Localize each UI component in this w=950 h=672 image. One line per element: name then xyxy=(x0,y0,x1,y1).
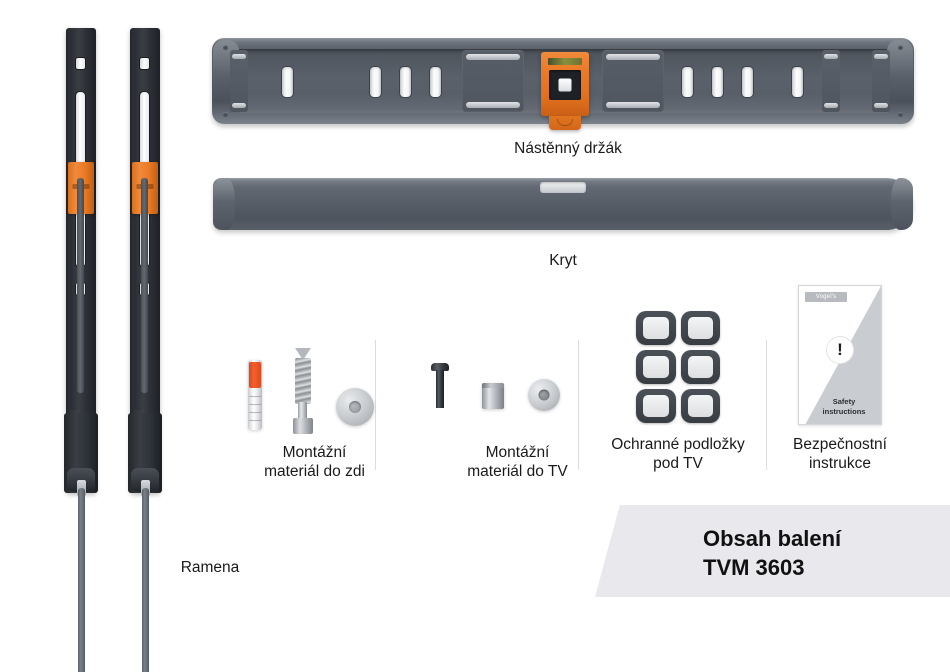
screw-point-icon xyxy=(898,45,903,50)
arm-inner-bar xyxy=(77,178,84,393)
spacer-sleeve-icon xyxy=(482,383,504,409)
lag-screw-icon xyxy=(292,348,314,430)
wall-hardware-label: Montážní materiál do zdi xyxy=(222,443,407,481)
wall-bracket-end-cap-right xyxy=(887,40,913,122)
banner-title: Obsah balení TVM 3603 xyxy=(703,524,841,582)
spacer-top xyxy=(482,383,504,388)
wall-bracket-slot xyxy=(712,67,723,97)
wall-bracket-label: Nástěnný držák xyxy=(468,139,668,158)
wall-bracket-slot xyxy=(792,67,803,97)
safety-instructions-booklet: Vogel's ! Safety instructions xyxy=(798,285,882,425)
booklet-safety-text: Safety instructions xyxy=(813,397,875,416)
wall-bracket-mount-plate xyxy=(602,50,664,112)
arm-inner-bar xyxy=(141,178,148,393)
vogels-logo-icon: Vogel's xyxy=(805,292,847,302)
bolt-shaft xyxy=(436,370,444,408)
wall-bracket-slot xyxy=(282,67,293,97)
wall-bracket-slot xyxy=(430,67,441,97)
exclamation-mark-icon: ! xyxy=(826,336,854,364)
wall-bracket-slot xyxy=(682,67,693,97)
center-lock-block xyxy=(541,52,589,116)
plate-strip xyxy=(824,103,838,108)
cover-end-left xyxy=(213,178,235,230)
cover xyxy=(213,178,913,230)
screw-head xyxy=(293,418,313,434)
plug-fin xyxy=(249,412,261,413)
washer-icon xyxy=(336,388,374,426)
pad xyxy=(681,350,721,384)
plate-strip xyxy=(232,54,246,59)
cover-end-right xyxy=(891,178,913,230)
cover-label: Kryt xyxy=(483,251,643,270)
wall-bracket xyxy=(212,38,914,124)
pad xyxy=(681,389,721,423)
wall-plug-icon xyxy=(248,360,262,430)
package-contents-illustration: Ramena xyxy=(0,0,950,672)
wall-plug-tip xyxy=(249,362,261,388)
wall-bracket-edge-plate xyxy=(822,50,840,112)
screw-point-icon xyxy=(223,112,228,117)
cover-slot xyxy=(540,182,586,193)
pad xyxy=(681,311,721,345)
protective-pads xyxy=(636,311,720,423)
screw-point-icon xyxy=(223,45,228,50)
instructions-label: Bezpečnostní instrukce xyxy=(770,435,910,473)
plate-strip xyxy=(466,102,520,108)
plug-fin xyxy=(249,420,261,421)
pads-label: Ochranné podložky pod TV xyxy=(588,435,768,473)
arm-pull-rod xyxy=(78,488,85,672)
plate-strip xyxy=(232,103,246,108)
tv-hardware-label: Montážní materiál do TV xyxy=(425,443,610,481)
washer-icon xyxy=(528,379,560,411)
plate-strip xyxy=(824,54,838,59)
pad xyxy=(636,311,676,345)
screw-point-icon xyxy=(898,112,903,117)
center-release-tab xyxy=(549,116,581,130)
plate-strip xyxy=(874,54,888,59)
pad xyxy=(636,350,676,384)
plate-strip xyxy=(466,54,520,60)
plate-strip xyxy=(874,103,888,108)
pad xyxy=(636,389,676,423)
arm-slot-square-top xyxy=(140,58,149,69)
wall-bracket-slot xyxy=(400,67,411,97)
arm-slot-square-top xyxy=(76,58,85,69)
wall-bracket-slot xyxy=(370,67,381,97)
wall-bracket-edge-plate xyxy=(872,50,890,112)
wall-bracket-mount-plate xyxy=(462,50,524,112)
lock-window xyxy=(549,70,581,100)
plate-strip xyxy=(606,54,660,60)
release-notch-icon xyxy=(557,119,573,126)
plate-strip xyxy=(606,102,660,108)
arm-pull-rod xyxy=(142,488,149,672)
title-banner: Obsah balení TVM 3603 xyxy=(595,505,950,597)
lock-pip xyxy=(559,79,572,92)
plug-fin xyxy=(249,404,261,405)
arms-label: Ramena xyxy=(110,558,310,577)
lock-label-strip xyxy=(548,58,582,65)
wall-bracket-slot xyxy=(742,67,753,97)
plug-fin xyxy=(249,396,261,397)
wall-bracket-edge-plate xyxy=(230,50,248,112)
screw-thread xyxy=(295,358,311,404)
bolt-icon xyxy=(430,363,452,413)
wall-mounting-hardware xyxy=(248,340,378,430)
tv-mounting-hardware xyxy=(430,363,560,423)
